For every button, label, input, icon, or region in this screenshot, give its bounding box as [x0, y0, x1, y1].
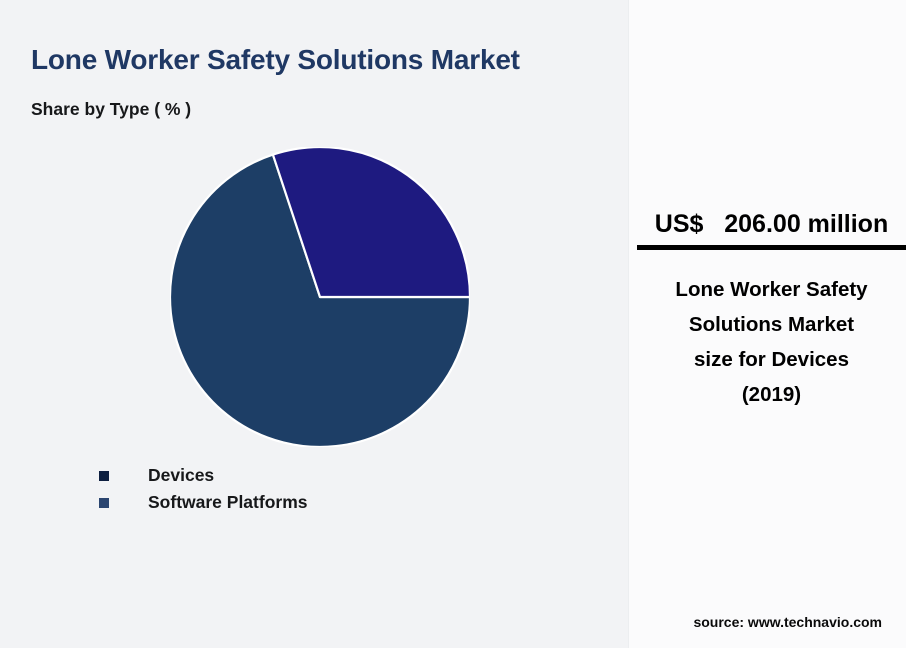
- callout-panel-inner: US$ 206.00 million Lone Worker Safety So…: [637, 0, 906, 648]
- chart-legend: Devices Software Platforms: [99, 462, 307, 516]
- legend-swatch-software-platforms: [99, 498, 109, 508]
- source-attribution: source: www.technavio.com: [693, 614, 882, 630]
- metric-divider: [637, 245, 906, 250]
- metric-value: US$ 206.00 million: [637, 210, 906, 239]
- legend-swatch-devices: [99, 471, 109, 481]
- legend-item-devices[interactable]: Devices: [99, 462, 307, 489]
- page-title: Lone Worker Safety Solutions Market: [31, 44, 520, 76]
- chart-canvas: Lone Worker Safety Solutions Market Shar…: [0, 0, 906, 648]
- metric-caption-line: Solutions Market: [645, 307, 898, 342]
- legend-label-software-platforms: Software Platforms: [148, 494, 307, 512]
- legend-label-devices: Devices: [148, 467, 214, 485]
- metric-caption-line: (2019): [645, 377, 898, 412]
- callout-panel: US$ 206.00 million Lone Worker Safety So…: [628, 0, 906, 648]
- chart-area: Lone Worker Safety Solutions Market Shar…: [0, 0, 628, 648]
- legend-item-software-platforms[interactable]: Software Platforms: [99, 489, 307, 516]
- pie-chart: [170, 147, 470, 447]
- metric-caption-line: size for Devices: [645, 342, 898, 377]
- metric-caption-line: Lone Worker Safety: [645, 272, 898, 307]
- metric-caption: Lone Worker Safety Solutions Market size…: [645, 272, 898, 412]
- chart-subtitle: Share by Type ( % ): [31, 99, 191, 120]
- pie-chart-svg: [170, 147, 470, 447]
